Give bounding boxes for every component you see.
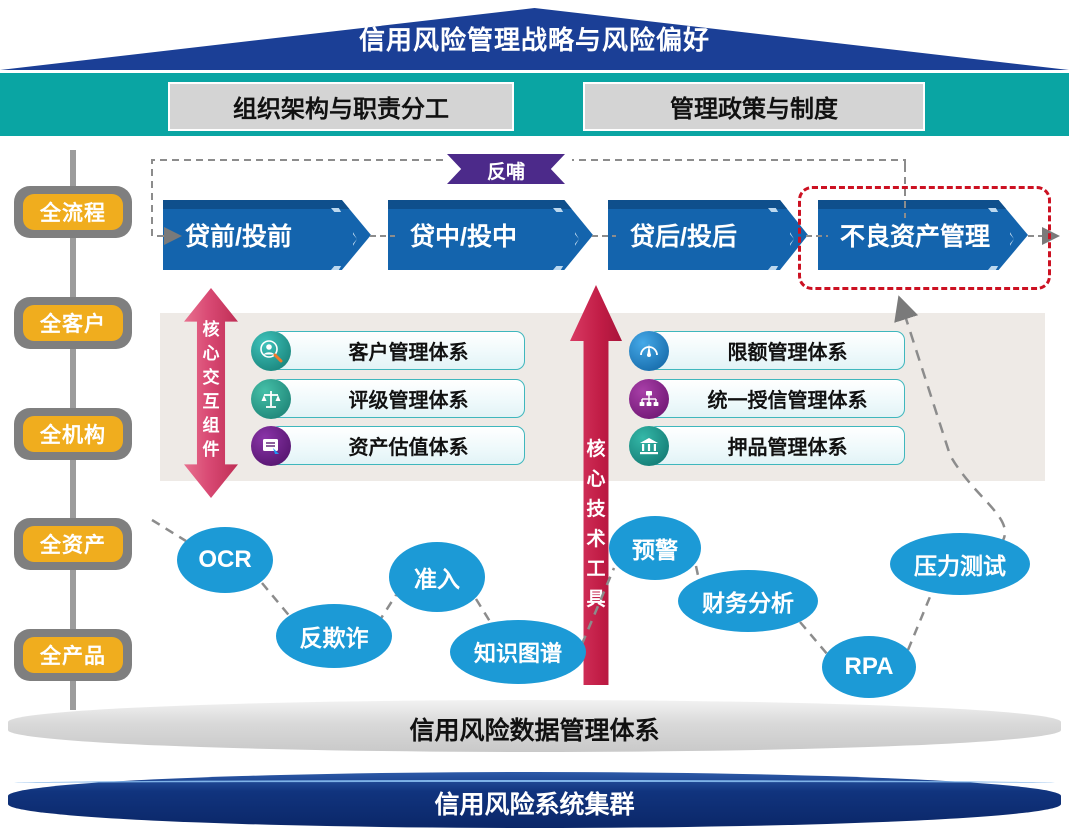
tool-node-stress-test-label: 压力测试: [914, 547, 1006, 581]
foundation-data-layer-label: 信用风险数据管理体系: [409, 711, 659, 747]
component-asset-valuation-label: 资产估值体系: [271, 431, 524, 460]
component-customer-management[interactable]: 客户管理体系: [270, 331, 525, 370]
component-limit-management[interactable]: 限额管理体系: [648, 331, 905, 370]
org-chart-icon: [629, 379, 669, 419]
process-stage-pre-loan-label: 贷前/投前: [163, 217, 292, 253]
foundation-data-layer: 信用风险数据管理体系: [8, 700, 1061, 752]
tool-node-knowledge-graph[interactable]: 知识图谱: [450, 620, 586, 684]
tool-node-stress-test[interactable]: 压力测试: [890, 533, 1030, 595]
sidebar-item-all-product[interactable]: 全产品: [14, 629, 132, 681]
tool-link-1: [262, 583, 292, 619]
document-valuation-icon: [251, 426, 291, 466]
tool-node-anti-fraud[interactable]: 反欺诈: [276, 604, 392, 668]
sidebar-label-all-product: 全产品: [40, 640, 106, 670]
process-stage-during-loan[interactable]: 贷中/投中: [388, 200, 593, 270]
governance-box-org[interactable]: 组织架构与职责分工: [168, 82, 514, 131]
component-rating-management[interactable]: 评级管理体系: [270, 379, 525, 418]
tool-link-6: [800, 622, 828, 655]
tool-link-0: [152, 520, 186, 541]
bank-collateral-icon: [629, 426, 669, 466]
process-stage-post-loan[interactable]: 贷后/投后: [608, 200, 808, 270]
process-stage-during-loan-label: 贷中/投中: [388, 217, 517, 253]
governance-box-org-label: 组织架构与职责分工: [233, 89, 449, 124]
component-collateral-management[interactable]: 押品管理体系: [648, 426, 905, 465]
component-rating-management-label: 评级管理体系: [271, 384, 524, 413]
chevron-highlight: [608, 200, 808, 209]
component-collateral-management-label: 押品管理体系: [649, 431, 904, 460]
sidebar-label-all-process: 全流程: [40, 197, 106, 227]
tool-node-financial-analysis[interactable]: 财务分析: [678, 570, 818, 632]
component-unified-credit-management[interactable]: 统一授信管理体系: [648, 379, 905, 418]
process-stage-pre-loan[interactable]: 贷前/投前: [163, 200, 371, 270]
component-unified-credit-management-label: 统一授信管理体系: [649, 384, 904, 413]
npl-highlight-box: [798, 186, 1051, 290]
governance-box-policy[interactable]: 管理政策与制度: [583, 82, 925, 131]
feedback-label: 反哺: [447, 157, 565, 184]
tool-node-ocr[interactable]: OCR: [177, 527, 273, 593]
tool-node-admission-label: 准入: [414, 560, 460, 594]
chevron-notch-icon: [768, 208, 794, 270]
tool-node-anti-fraud-label: 反欺诈: [300, 619, 369, 653]
tool-node-early-warning-label: 预警: [632, 531, 678, 565]
tool-link-7: [908, 592, 932, 650]
scales-balance-icon: [251, 379, 291, 419]
sidebar-item-all-asset[interactable]: 全资产: [14, 518, 132, 570]
sidebar-item-all-institution[interactable]: 全机构: [14, 408, 132, 460]
tool-node-admission[interactable]: 准入: [389, 542, 485, 612]
chevron-highlight: [388, 200, 593, 209]
foundation-system-layer-label: 信用风险系统集群: [434, 785, 634, 821]
tool-node-financial-analysis-label: 财务分析: [702, 584, 794, 618]
component-asset-valuation[interactable]: 资产估值体系: [270, 426, 525, 465]
system-layer-rim: [14, 780, 1055, 786]
sidebar-label-all-customer: 全客户: [40, 308, 106, 338]
tool-node-rpa-label: RPA: [845, 653, 894, 681]
chevron-highlight: [163, 200, 371, 209]
sidebar-item-all-process[interactable]: 全流程: [14, 186, 132, 238]
sidebar-label-all-asset: 全资产: [40, 529, 106, 559]
component-customer-management-label: 客户管理体系: [271, 336, 524, 365]
tool-node-ocr-label: OCR: [198, 546, 251, 574]
diagram-canvas: 信用风险管理战略与风险偏好 组织架构与职责分工 管理政策与制度 全流程 全客户 …: [0, 0, 1069, 840]
sidebar-item-all-customer[interactable]: 全客户: [14, 297, 132, 349]
gauge-limit-icon: [629, 331, 669, 371]
chevron-notch-icon: [553, 208, 579, 270]
sidebar-label-all-institution: 全机构: [40, 419, 106, 449]
governance-box-policy-label: 管理政策与制度: [670, 89, 838, 124]
tool-node-early-warning[interactable]: 预警: [609, 516, 701, 580]
tool-node-rpa[interactable]: RPA: [822, 636, 916, 698]
component-limit-management-label: 限额管理体系: [649, 336, 904, 365]
feedback-line-right: [572, 160, 905, 165]
chevron-notch-icon: [331, 208, 357, 270]
customer-search-icon: [251, 331, 291, 371]
process-stage-post-loan-label: 贷后/投后: [608, 217, 737, 253]
roof-title: 信用风险管理战略与风险偏好: [0, 20, 1069, 57]
tool-node-knowledge-graph-label: 知识图谱: [474, 636, 562, 668]
